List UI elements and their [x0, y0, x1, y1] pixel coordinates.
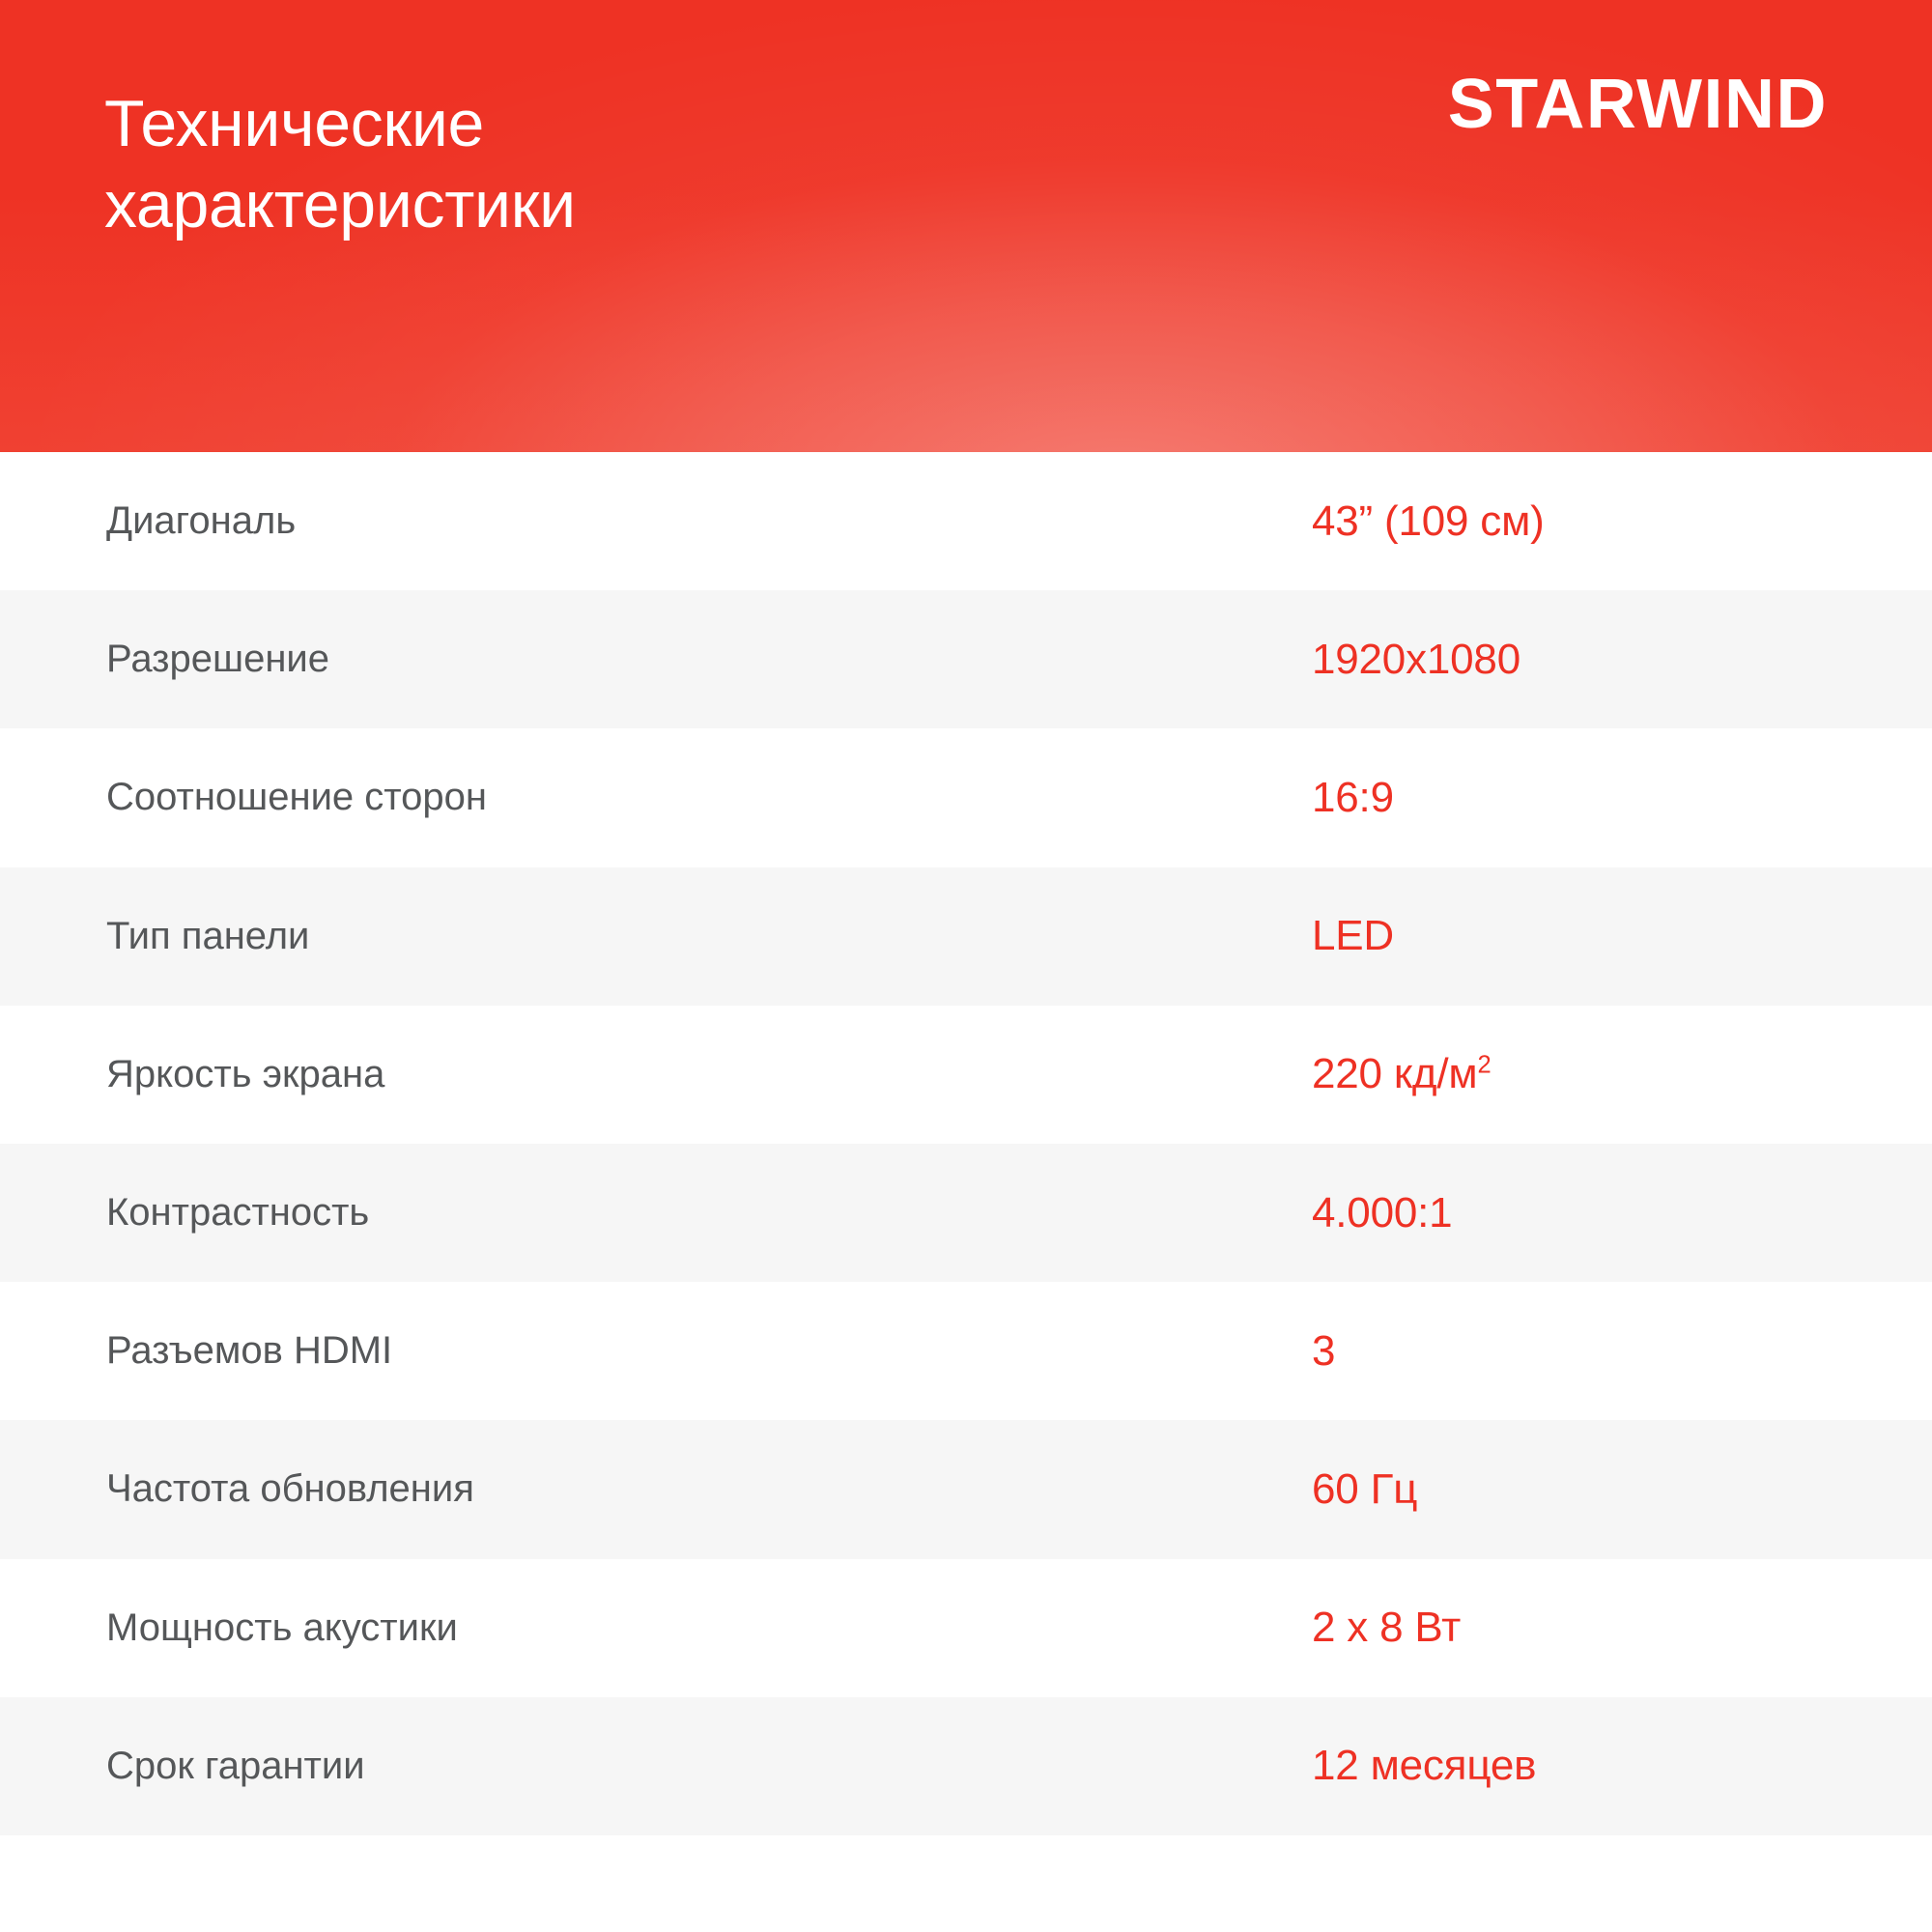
spec-label: Мощность акустики — [106, 1606, 458, 1650]
page-header: Технические характеристики STARWIND — [0, 0, 1932, 452]
spec-value-superscript: 2 — [1477, 1052, 1491, 1079]
spec-sheet-page: Технические характеристики STARWIND Диаг… — [0, 0, 1932, 1932]
spec-value-text: 60 Гц — [1312, 1465, 1417, 1513]
spec-label: Разрешение — [106, 638, 329, 681]
table-row: Диагональ43” (109 см) — [0, 452, 1932, 590]
spec-value: 220 кд/м2 — [1312, 1050, 1491, 1098]
spec-value-text: 2 x 8 Вт — [1312, 1604, 1461, 1651]
spec-value: 2 x 8 Вт — [1312, 1604, 1461, 1652]
spec-value: 4.000:1 — [1312, 1189, 1452, 1237]
spec-value: 43” (109 см) — [1312, 497, 1545, 546]
spec-value: 3 — [1312, 1327, 1335, 1376]
table-row: Контрастность4.000:1 — [0, 1144, 1932, 1282]
spec-value-text: 4.000:1 — [1312, 1189, 1452, 1236]
spec-label: Разъемов HDMI — [106, 1329, 392, 1373]
table-row: Срок гарантии12 месяцев — [0, 1697, 1932, 1835]
table-row: Разъемов HDMI3 — [0, 1282, 1932, 1420]
spec-value: 1920x1080 — [1312, 636, 1520, 684]
specifications-table: Диагональ43” (109 см)Разрешение1920x1080… — [0, 452, 1932, 1932]
spec-value-text: 3 — [1312, 1327, 1335, 1375]
spec-label: Срок гарантии — [106, 1745, 365, 1788]
spec-label: Частота обновления — [106, 1467, 474, 1511]
spec-value: LED — [1312, 912, 1394, 960]
table-row: Разрешение1920x1080 — [0, 590, 1932, 728]
table-row: Мощность акустики2 x 8 Вт — [0, 1559, 1932, 1697]
spec-value-text: 12 месяцев — [1312, 1742, 1536, 1789]
spec-value-text: 43” (109 см) — [1312, 497, 1545, 545]
table-row: Тип панелиLED — [0, 867, 1932, 1006]
spec-label: Яркость экрана — [106, 1053, 384, 1096]
spec-value-text: 220 кд/м — [1312, 1050, 1477, 1097]
table-row: Соотношение сторон16:9 — [0, 728, 1932, 867]
table-row: Частота обновления60 Гц — [0, 1420, 1932, 1558]
spec-value-text: LED — [1312, 912, 1394, 959]
table-row: Яркость экрана220 кд/м2 — [0, 1006, 1932, 1144]
spec-label: Соотношение сторон — [106, 776, 487, 819]
spec-value-text: 1920x1080 — [1312, 636, 1520, 683]
spec-value: 60 Гц — [1312, 1465, 1417, 1514]
spec-label: Контрастность — [106, 1191, 369, 1235]
page-title: Технические характеристики — [104, 83, 1070, 246]
starwind-logo: STARWIND — [1448, 70, 1828, 139]
spec-value: 12 месяцев — [1312, 1742, 1536, 1790]
spec-value-text: 16:9 — [1312, 774, 1394, 821]
spec-value: 16:9 — [1312, 774, 1394, 822]
spec-label: Диагональ — [106, 499, 296, 543]
spec-label: Тип панели — [106, 915, 309, 958]
